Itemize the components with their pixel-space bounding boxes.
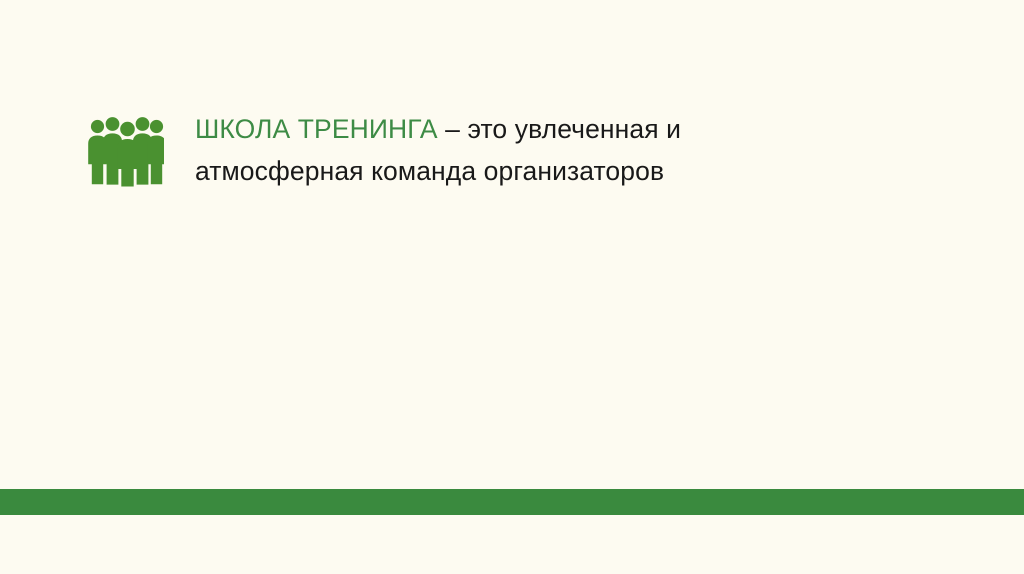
- headline-block: ШКОЛА ТРЕНИНГА – это увлеченная и атмосф…: [86, 108, 835, 194]
- group-of-people-icon: [86, 114, 164, 194]
- bottom-accent-bar: [0, 489, 1024, 515]
- brand-name: ШКОЛА ТРЕНИНГА: [195, 114, 438, 144]
- page-title: ШКОЛА ТРЕНИНГА – это увлеченная и атмосф…: [195, 108, 835, 192]
- slide-canvas: ШКОЛА ТРЕНИНГА – это увлеченная и атмосф…: [0, 0, 1024, 574]
